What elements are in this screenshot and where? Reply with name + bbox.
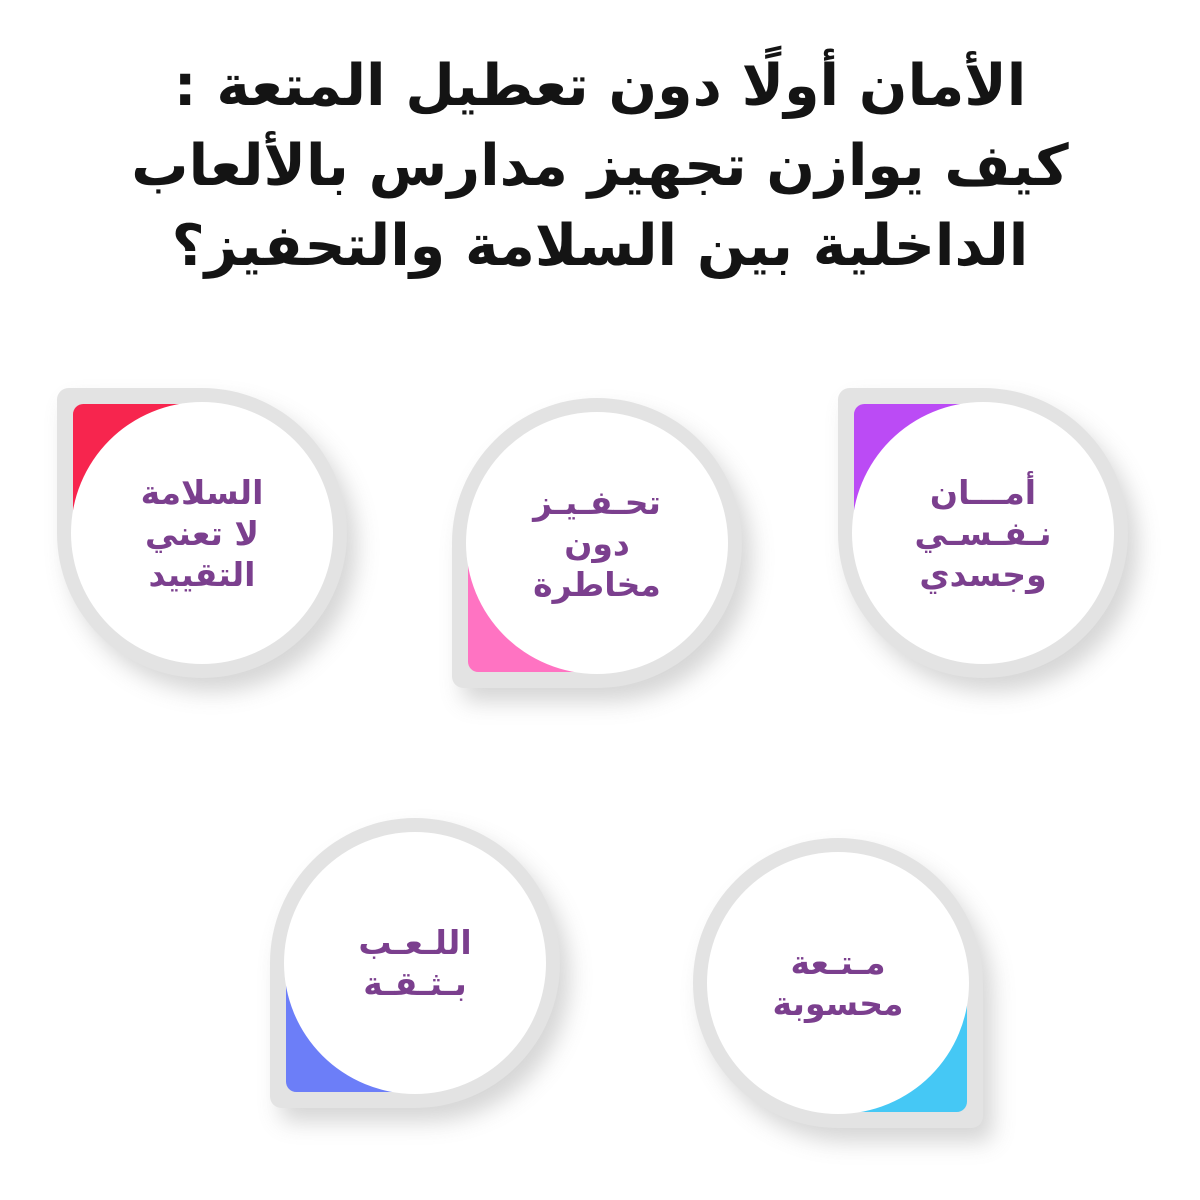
- badge-label-line-2: لا تعني: [83, 513, 321, 554]
- badge-label-line-2: محسوبة: [719, 983, 957, 1024]
- badge-label-line-2: دون: [478, 523, 716, 564]
- badge-label-line-1: أمـــان: [864, 472, 1102, 513]
- badge-disc: أمـــان نـفـسـي وجسدي: [852, 402, 1114, 664]
- badge-disc: السلامة لا تعني التقييد: [71, 402, 333, 664]
- badge-label-line-2: بـثـقـة: [296, 963, 534, 1004]
- badge-label-line-1: تحـفـيـز: [478, 482, 716, 523]
- badge-play-with-confidence[interactable]: اللـعـب بـثـقـة: [270, 818, 560, 1108]
- badge-disc: مـتـعة محسوبة: [707, 852, 969, 1114]
- title-line-3: الداخلية بين السلامة والتحفيز؟: [0, 206, 1200, 286]
- badge-measured-fun[interactable]: مـتـعة محسوبة: [693, 838, 983, 1128]
- badge-label-line-3: مخاطرة: [478, 564, 716, 605]
- badge-label-line-1: مـتـعة: [719, 942, 957, 983]
- badge-safety-not-restriction[interactable]: السلامة لا تعني التقييد: [57, 388, 347, 678]
- badge-label-line-1: اللـعـب: [296, 922, 534, 963]
- badge-label: مـتـعة محسوبة: [707, 942, 969, 1024]
- badge-disc: تحـفـيـز دون مخاطرة: [466, 412, 728, 674]
- badge-label: أمـــان نـفـسـي وجسدي: [852, 472, 1114, 595]
- page-title: الأمان أولًا دون تعطيل المتعة : كيف يواز…: [0, 46, 1200, 286]
- badge-psychological-physical-safety[interactable]: أمـــان نـفـسـي وجسدي: [838, 388, 1128, 678]
- infographic-canvas: الأمان أولًا دون تعطيل المتعة : كيف يواز…: [0, 0, 1200, 1200]
- badge-label-line-2: نـفـسـي: [864, 513, 1102, 554]
- badge-label: السلامة لا تعني التقييد: [71, 472, 333, 595]
- badge-label-line-3: التقييد: [83, 554, 321, 595]
- badge-label-line-1: السلامة: [83, 472, 321, 513]
- badge-label: تحـفـيـز دون مخاطرة: [466, 482, 728, 605]
- badge-label: اللـعـب بـثـقـة: [284, 922, 546, 1004]
- title-line-1: الأمان أولًا دون تعطيل المتعة :: [0, 46, 1200, 126]
- badge-label-line-3: وجسدي: [864, 554, 1102, 595]
- badge-disc: اللـعـب بـثـقـة: [284, 832, 546, 1094]
- badge-stimulation-without-risk[interactable]: تحـفـيـز دون مخاطرة: [452, 398, 742, 688]
- title-line-2: كيف يوازن تجهيز مدارس بالألعاب: [0, 126, 1200, 206]
